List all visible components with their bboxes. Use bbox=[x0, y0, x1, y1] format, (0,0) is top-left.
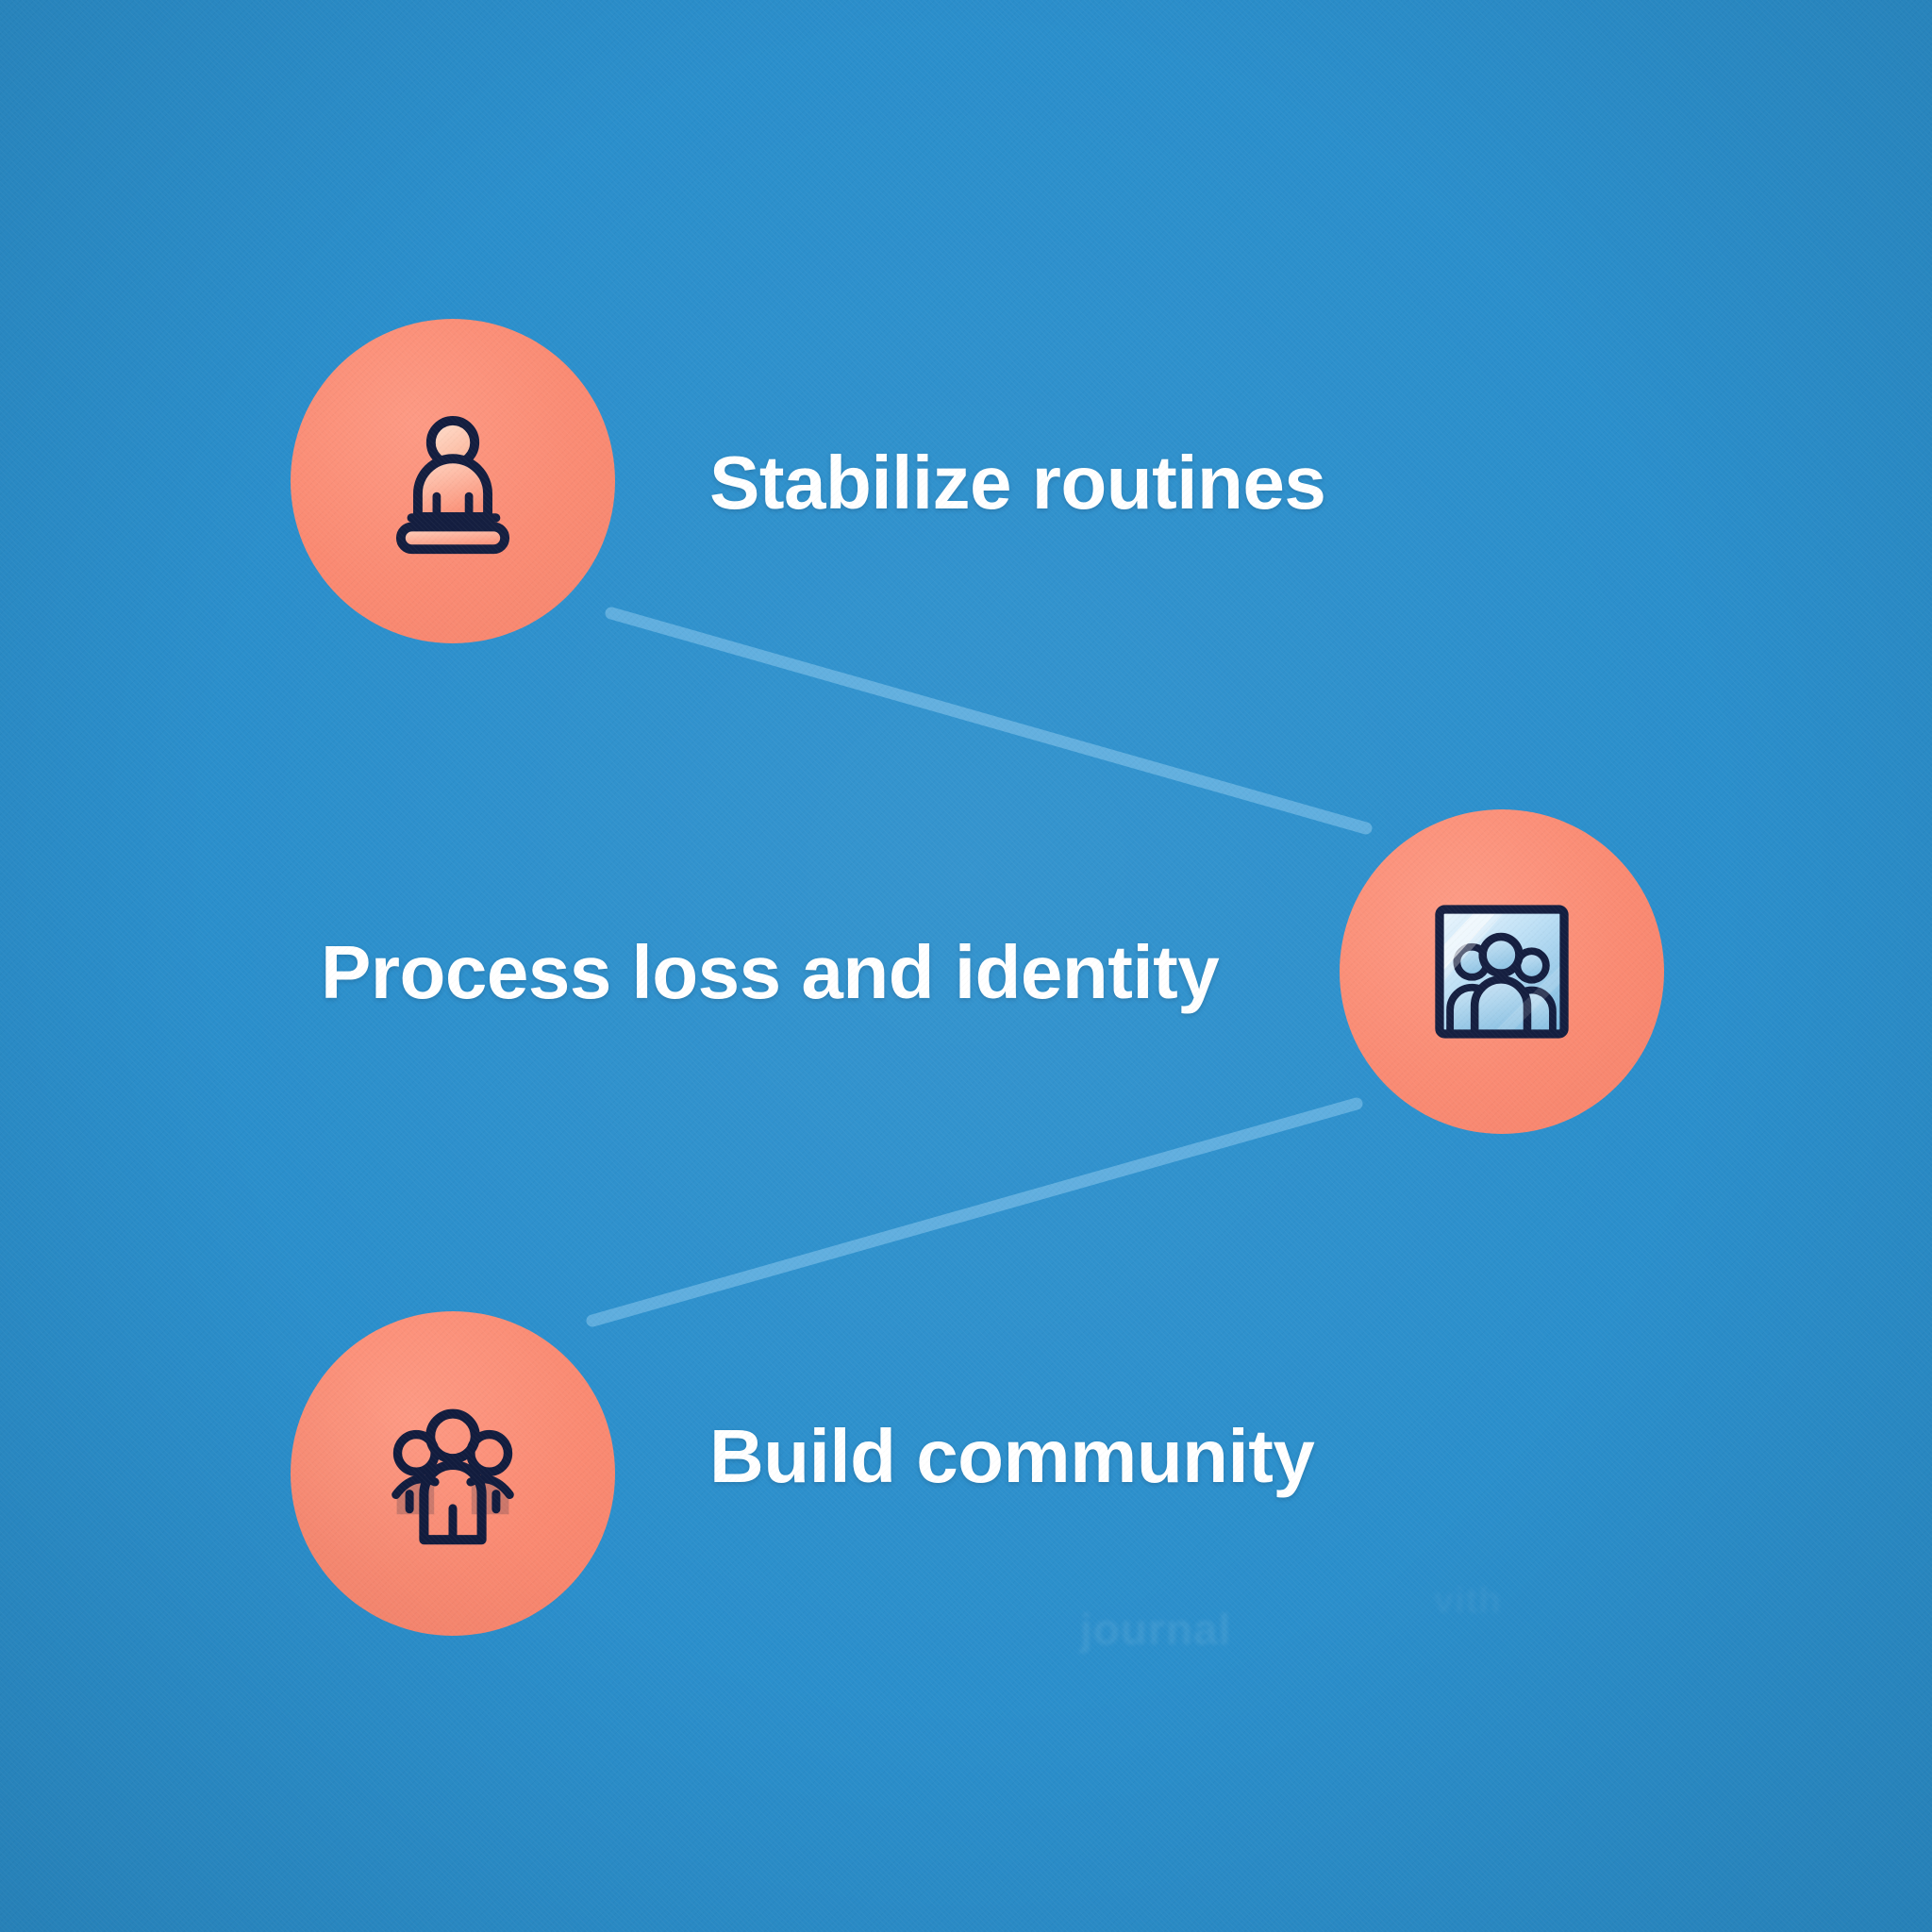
infographic-canvas: journal vith bbox=[0, 0, 1932, 1932]
connector-bottom bbox=[592, 1104, 1357, 1321]
ghost-artifact-text-1: journal bbox=[1080, 1604, 1231, 1655]
node-label-process-loss-and-identity: Process loss and identity bbox=[321, 929, 1219, 1016]
node-circle-build-community[interactable] bbox=[291, 1311, 615, 1636]
ghost-artifact-text-2: vith bbox=[1434, 1581, 1502, 1622]
node-circle-process-loss-and-identity[interactable] bbox=[1340, 809, 1664, 1134]
framed-family-photo-icon bbox=[1414, 884, 1590, 1059]
group-of-people-icon bbox=[368, 1389, 538, 1558]
node-label-stabilize-routines: Stabilize routines bbox=[709, 440, 1325, 526]
node-label-build-community: Build community bbox=[709, 1413, 1314, 1500]
connector-top bbox=[611, 613, 1366, 828]
node-circle-stabilize-routines[interactable] bbox=[291, 319, 615, 643]
meditating-person-icon bbox=[363, 391, 542, 571]
